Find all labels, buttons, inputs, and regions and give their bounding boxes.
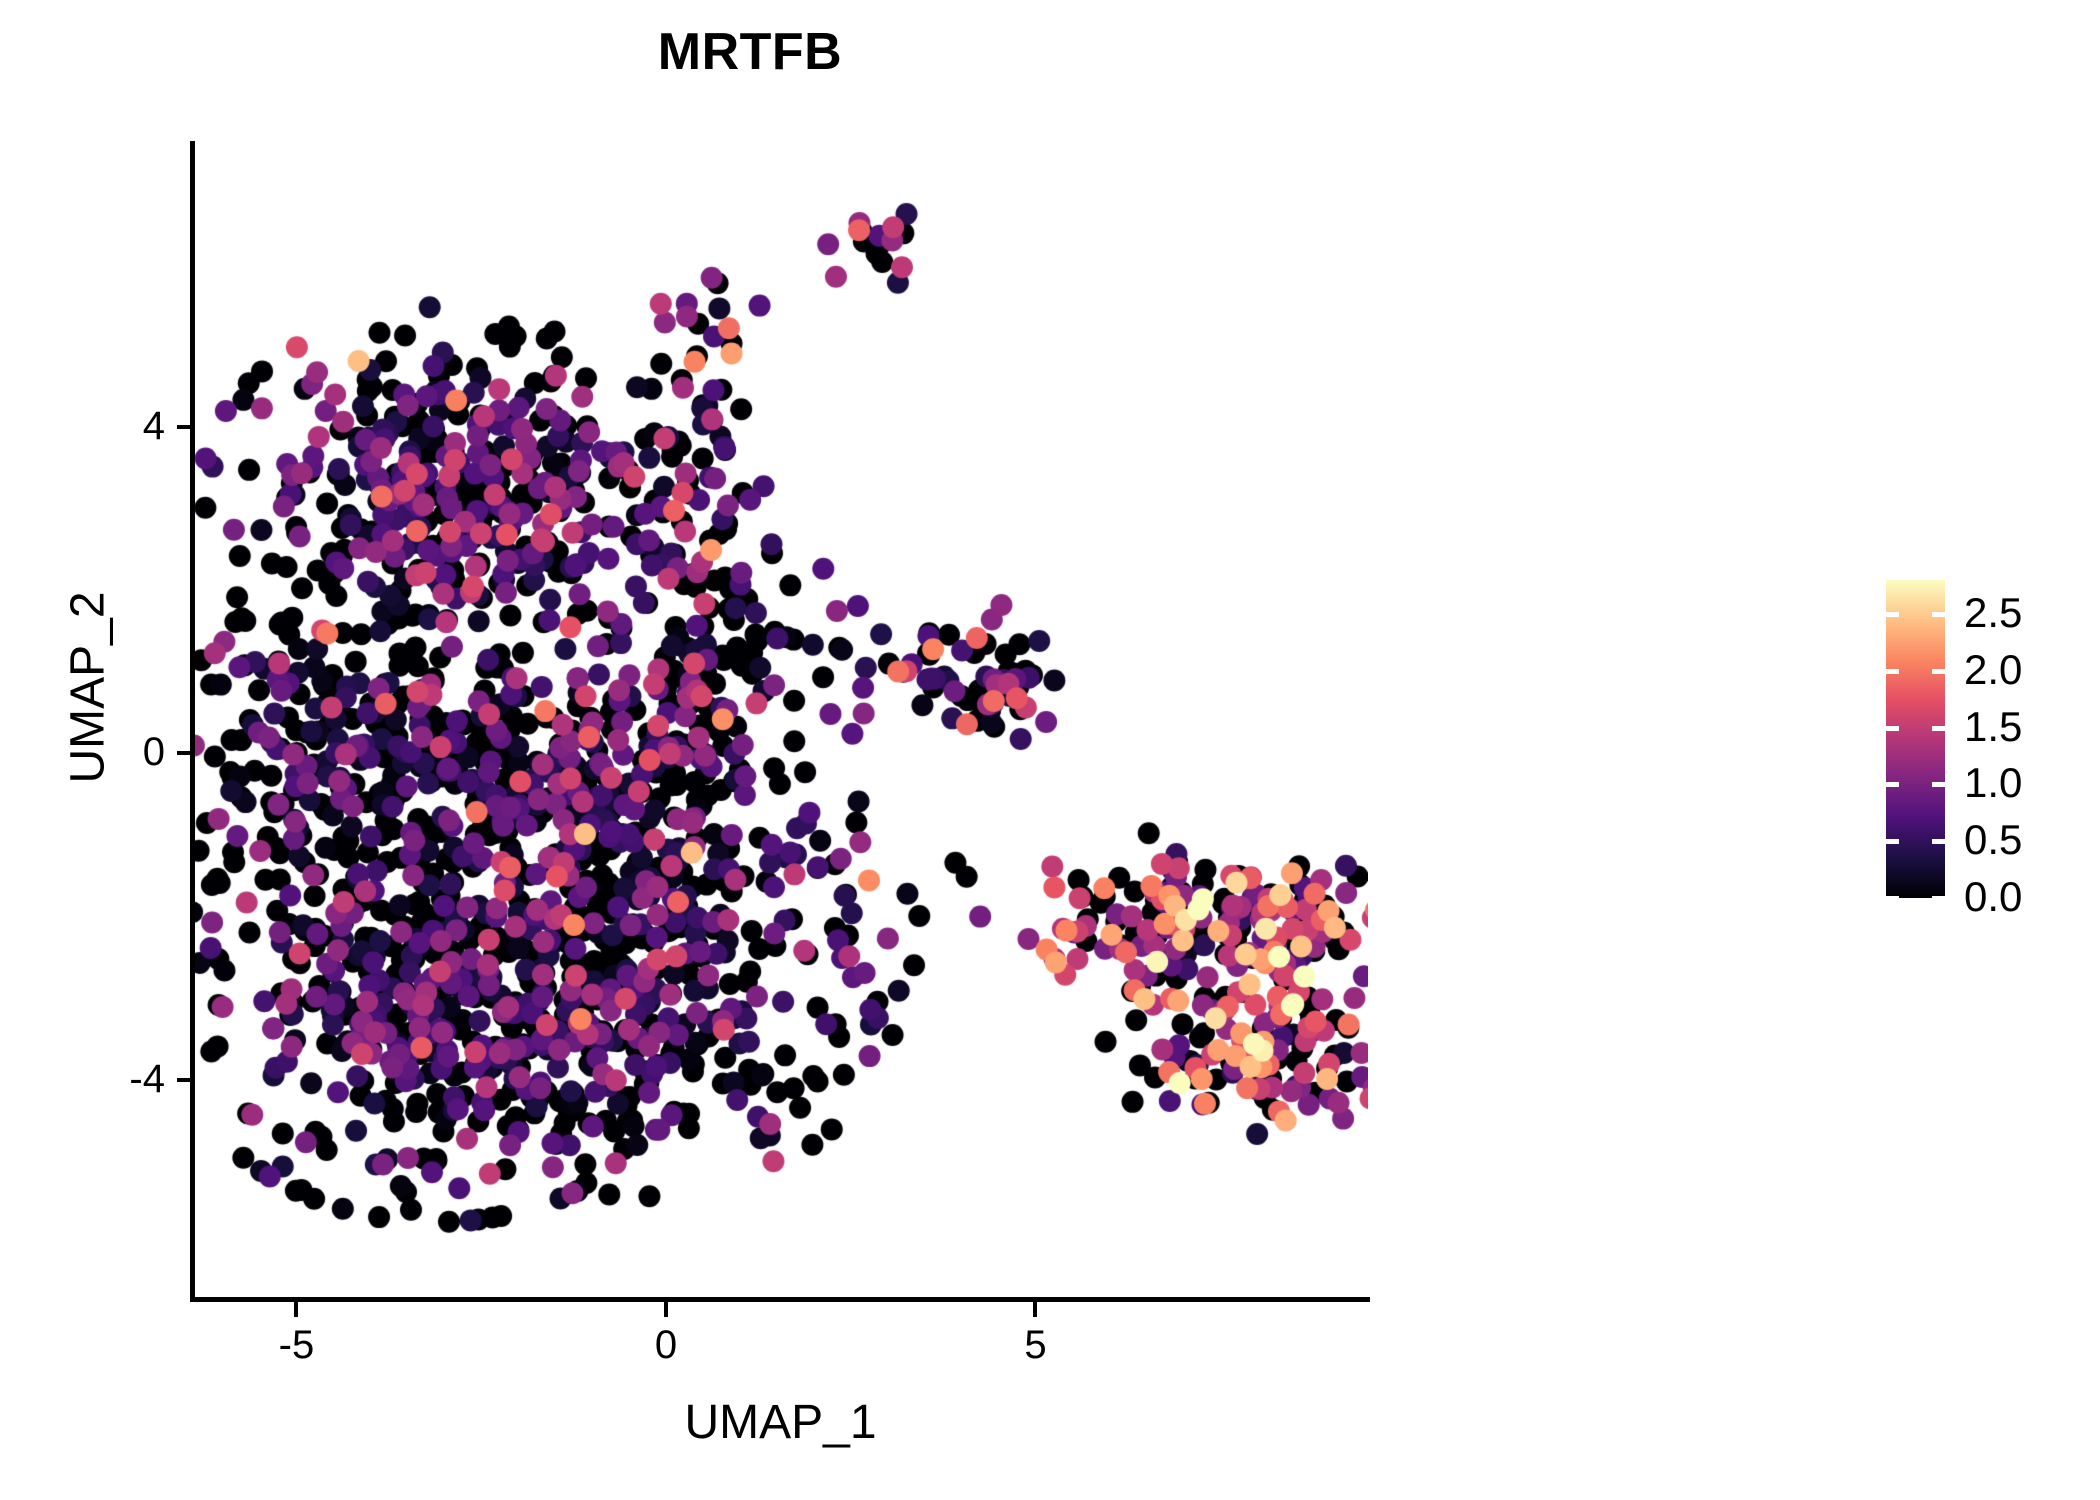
scatter-points-canvas [193, 141, 1368, 1300]
y-tick-label: -4 [60, 1059, 165, 1099]
feature-plot-figure: MRTFB 40-4 -505 UMAP_1 UMAP_2 2.52.01.51… [0, 0, 2100, 1500]
y-tick-mark [177, 1078, 190, 1082]
colorbar-tick-mark [1932, 669, 1945, 674]
x-tick-label: -5 [236, 1325, 356, 1365]
colorbar-tick-label: 2.0 [1964, 649, 2022, 691]
colorbar-tick-mark [1932, 782, 1945, 787]
x-axis-line [190, 1297, 1370, 1302]
colorbar-tick-mark [1932, 726, 1945, 731]
x-axis-title: UMAP_1 [193, 1395, 1368, 1450]
colorbar-tick-label: 0.5 [1964, 819, 2022, 861]
colorbar-tick-label: 1.0 [1964, 762, 2022, 804]
page-title: MRTFB [0, 24, 1500, 81]
colorbar-tick-mark [1886, 669, 1899, 674]
x-tick-label: 5 [975, 1325, 1095, 1365]
colorbar-tick-mark [1886, 782, 1899, 787]
colorbar-tick-mark [1932, 896, 1945, 901]
colorbar-tick-label: 2.5 [1964, 592, 2022, 634]
x-tick-mark [294, 1302, 298, 1317]
colorbar-tick-mark [1886, 612, 1899, 617]
colorbar-tick-mark [1886, 726, 1899, 731]
x-tick-label: 0 [606, 1325, 726, 1365]
colorbar-tick-mark [1886, 839, 1899, 844]
colorbar-tick-mark [1886, 896, 1899, 901]
x-tick-mark [664, 1302, 668, 1317]
colorbar-tick-label: 1.5 [1964, 706, 2022, 748]
y-tick-mark [177, 751, 190, 755]
colorbar-tick-mark [1932, 839, 1945, 844]
colorbar-tick-mark [1932, 612, 1945, 617]
color-legend: 2.52.01.51.00.50.0 [1886, 580, 2086, 900]
y-axis-line [190, 141, 195, 1302]
colorbar-tick-label: 0.0 [1964, 876, 2022, 918]
y-axis-title: UMAP_2 [61, 388, 116, 988]
x-tick-mark [1033, 1302, 1037, 1317]
y-tick-mark [177, 425, 190, 429]
scatter-panel [193, 141, 1368, 1300]
colorbar-gradient [1886, 580, 1945, 898]
